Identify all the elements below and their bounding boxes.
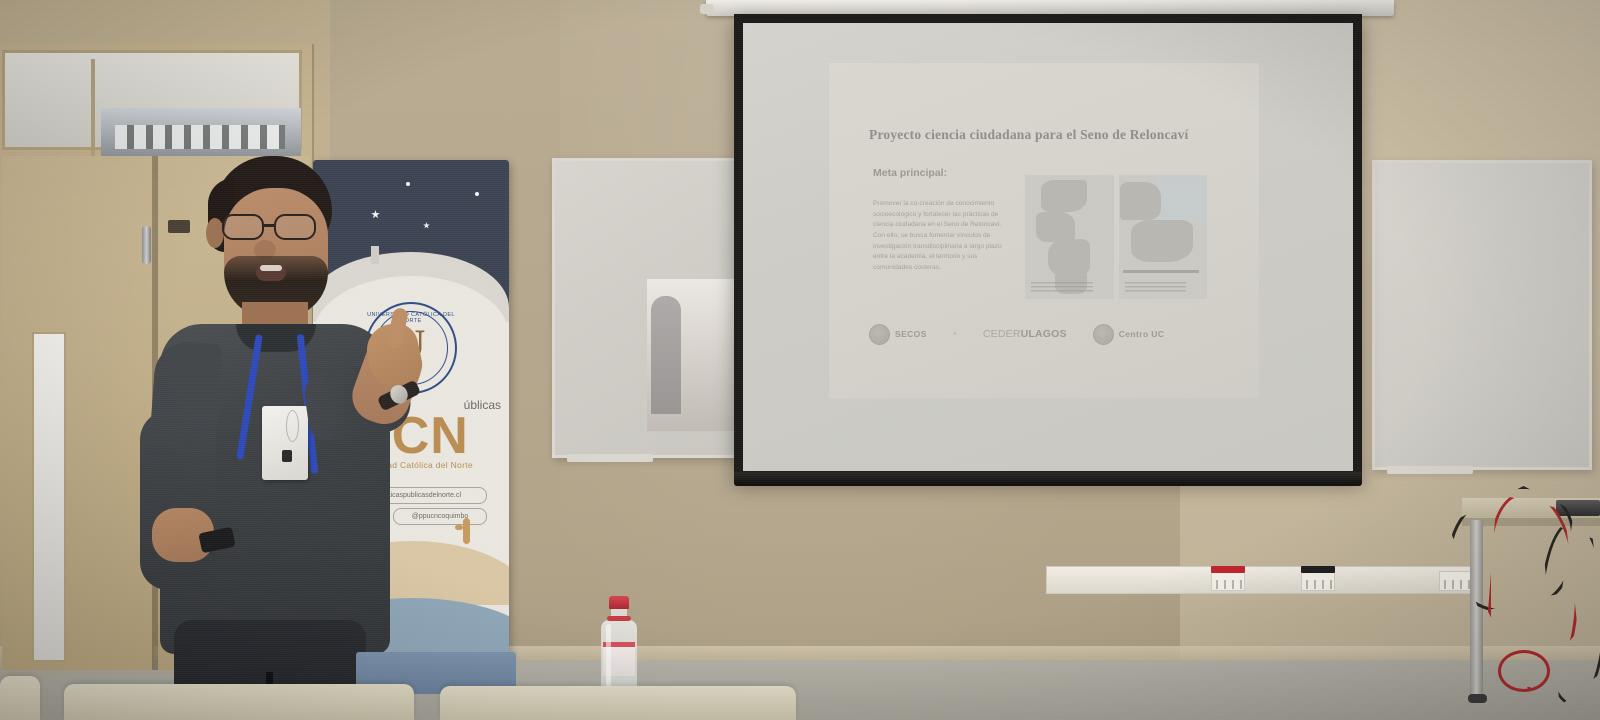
screen-bottom-bar <box>734 472 1362 486</box>
transom-window <box>2 50 302 150</box>
id-badge <box>262 406 308 480</box>
map-figure-right <box>1119 175 1208 299</box>
logo-secos: SECOS <box>869 324 927 345</box>
slide-title: Proyecto ciencia ciudadana para el Seno … <box>869 127 1249 143</box>
badge-clip <box>282 450 292 462</box>
presenter-mouth <box>256 264 286 281</box>
logo-separator: × <box>953 331 957 338</box>
person-reflection <box>651 296 681 414</box>
map-figure-left <box>1025 175 1114 299</box>
bottle-cap <box>609 596 629 609</box>
screen-surface: Proyecto ciencia ciudadana para el Seno … <box>743 23 1353 471</box>
secos-globe-icon <box>869 324 890 345</box>
logo-ceder-ulagos: CEDERULAGOS <box>983 328 1067 340</box>
star-icon <box>475 192 479 196</box>
desk-front-right <box>440 686 796 720</box>
door-vision-panel-left <box>32 332 66 662</box>
centro-uc-icon <box>1093 324 1114 345</box>
screen-roller-endcap <box>700 4 714 14</box>
corridor-reflection <box>115 125 285 149</box>
desk-front-left <box>64 684 414 720</box>
badge-clip-loop <box>286 410 299 442</box>
outlet-label-red <box>1211 566 1245 573</box>
outlet-slots <box>1306 580 1332 589</box>
photo-scene: UNIVERSIDAD CATÓLICA DEL NORTE U úblicas… <box>0 0 1600 720</box>
logo-centro-uc: Centro UC <box>1093 324 1165 345</box>
power-outlet-black[interactable] <box>1301 571 1335 591</box>
presenter <box>96 152 426 720</box>
projected-slide: Proyecto ciencia ciudadana para el Seno … <box>829 63 1259 398</box>
logo-centro-uc-label: Centro UC <box>1119 329 1165 339</box>
map-scalebar <box>1123 270 1199 273</box>
slide-subtitle: Meta principal: <box>873 167 947 179</box>
logo-ulagos-label: ULAGOS <box>1021 328 1067 340</box>
projection-screen: Proyecto ciencia ciudadana para el Seno … <box>734 14 1362 480</box>
logo-ceder-label: CEDER <box>983 328 1021 340</box>
eyeglasses-icon <box>222 214 334 240</box>
logo-secos-label: SECOS <box>895 329 927 339</box>
outlet-slots <box>1216 580 1242 589</box>
map-legend <box>1125 282 1187 294</box>
slide-partner-logos: SECOS × CEDERULAGOS Centro UC <box>869 321 1229 347</box>
bottle-ring <box>607 616 631 621</box>
outlet-slots <box>1444 580 1470 589</box>
transom-mullion <box>91 59 95 159</box>
marker-tray <box>567 454 653 462</box>
slide-map-figures <box>1025 175 1207 299</box>
whiteboard-right <box>1372 160 1592 470</box>
whiteboard-center <box>552 158 742 458</box>
slide-body-text: Promover la co-creación de conocimiento … <box>873 199 1015 274</box>
marker-tray <box>1387 466 1473 474</box>
desk-edge-left <box>0 676 40 720</box>
side-table-foot <box>1468 694 1487 703</box>
cable-trunking <box>1046 566 1476 594</box>
presenter-arm-left <box>140 410 216 590</box>
outlet-label-black <box>1301 566 1335 573</box>
red-cable-coil <box>1498 650 1550 692</box>
map-legend <box>1031 282 1093 294</box>
power-outlet-red[interactable] <box>1211 571 1245 591</box>
